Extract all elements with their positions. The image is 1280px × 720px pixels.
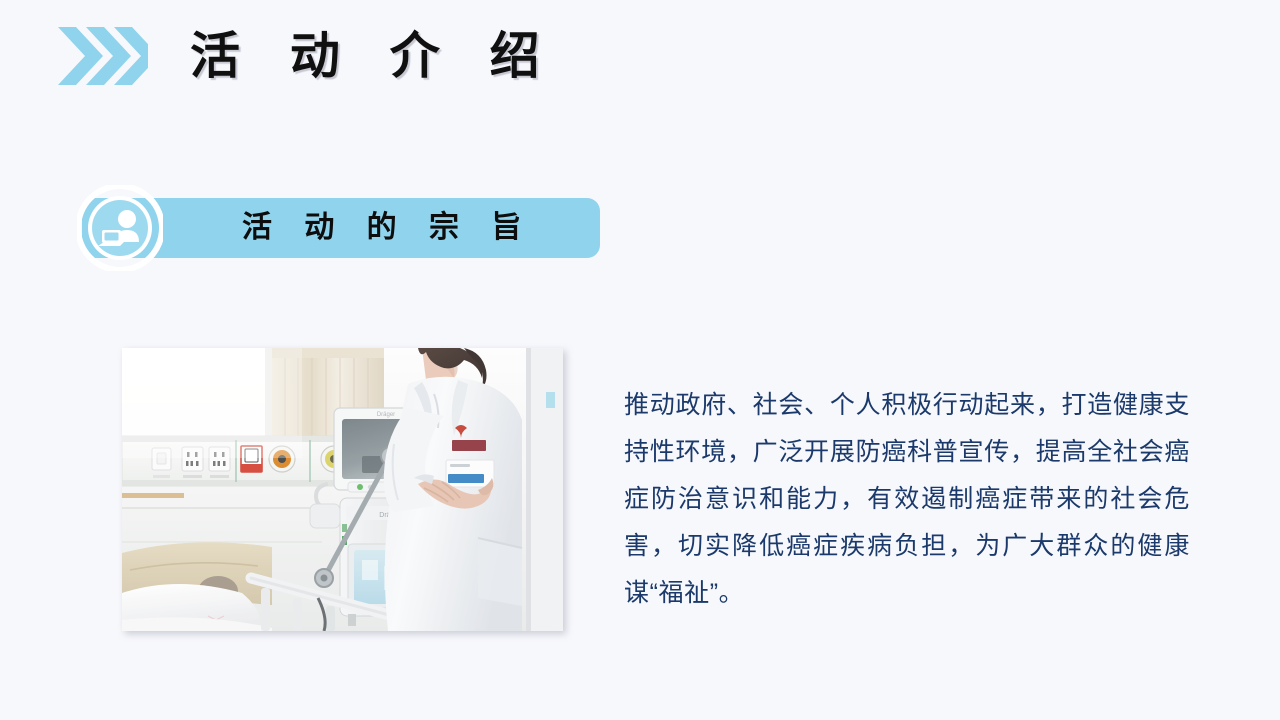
person-with-laptop-icon — [77, 185, 163, 271]
photo-illustration: Dräger Dräger — [122, 348, 563, 631]
page-title: 活 动 介 绍 — [190, 31, 558, 81]
triple-chevron-right-icon — [56, 26, 148, 86]
hospital-room-doctor-photo: Dräger Dräger — [122, 348, 563, 631]
section-badge-label: 活 动 的 宗 旨 — [242, 198, 533, 258]
intro-paragraph: 推动政府、社会、个人积极行动起来，打造健康支持性环境，广泛开展防癌科普宣传，提高… — [624, 382, 1190, 617]
slide-root: 活 动 介 绍 活 动 的 宗 旨 — [0, 0, 1280, 720]
section-badge: 活 动 的 宗 旨 — [82, 198, 600, 258]
slide-header: 活 动 介 绍 — [56, 26, 558, 86]
